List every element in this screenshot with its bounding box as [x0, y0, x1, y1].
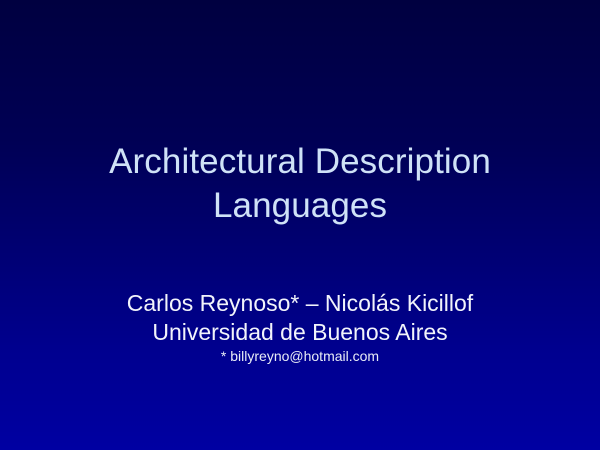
title-line-1: Architectural Description [0, 140, 600, 184]
affiliation-line: Universidad de Buenos Aires [0, 318, 600, 347]
slide-subtitle: Carlos Reynoso* – Nicolás Kicillof Unive… [0, 289, 600, 366]
email-line: * billyreyno@hotmail.com [0, 347, 600, 366]
title-line-2: Languages [0, 184, 600, 228]
slide-title: Architectural Description Languages [0, 140, 600, 228]
presentation-slide: Architectural Description Languages Carl… [0, 0, 600, 450]
authors-line: Carlos Reynoso* – Nicolás Kicillof [0, 289, 600, 318]
